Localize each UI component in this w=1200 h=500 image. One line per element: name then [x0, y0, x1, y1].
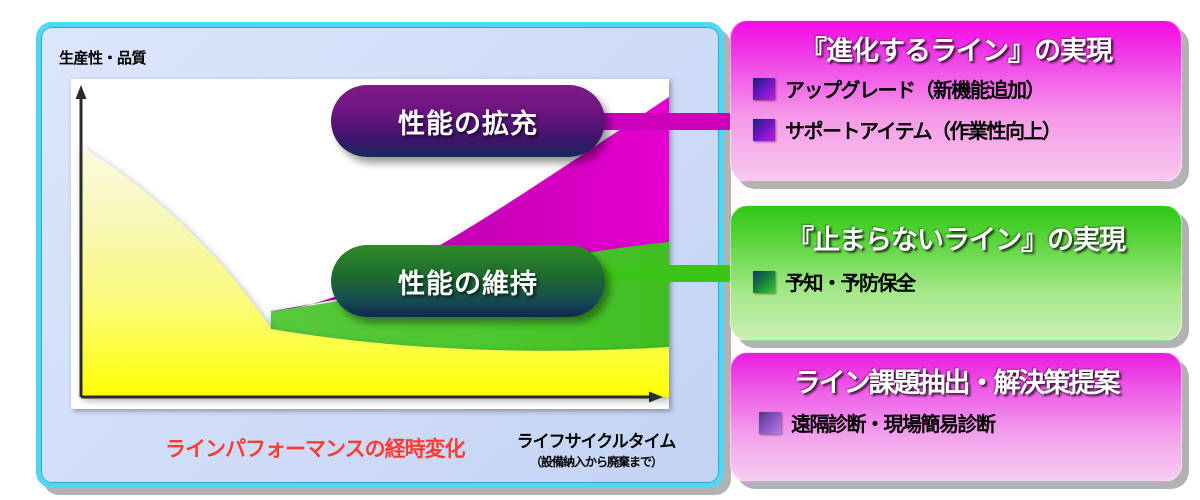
diagram-canvas: 生産性・品質 — [0, 0, 1200, 500]
x-axis-label: ライフサイクルタイム — [481, 427, 711, 452]
list-item-label: サポートアイテム（作業性向上） — [785, 115, 1061, 144]
panel-nonstop-line[interactable]: 『止まらないライン』の実現 予知・予防保全 — [730, 205, 1182, 341]
panel-nonstop-line-title: 『止まらないライン』の実現 — [731, 206, 1181, 257]
x-axis-label-block: ライフサイクルタイム （設備納入から廃棄まで） — [481, 427, 711, 470]
x-axis-sublabel: （設備納入から廃棄まで） — [481, 453, 711, 470]
panel-issue-extraction-bullets: 遠隔診断・現場簡易診断 — [731, 400, 1181, 437]
list-item[interactable]: アップグレード（新機能追加） — [753, 74, 1181, 103]
panel-evolving-line-bullets: アップグレード（新機能追加） サポートアイテム（作業性向上） — [731, 68, 1181, 144]
bullet-square-icon — [759, 412, 781, 434]
y-axis-arrow — [76, 85, 87, 99]
bullet-square-icon — [753, 78, 775, 100]
list-item-label: 遠隔診断・現場簡易診断 — [791, 408, 995, 437]
label-pill-performance-expansion: 性能の拡充 — [331, 85, 605, 157]
label-pill-performance-maintenance: 性能の維持 — [331, 245, 605, 317]
panel-evolving-line-title: 『進化するライン』の実現 — [731, 21, 1181, 68]
list-item-label: アップグレード（新機能追加） — [785, 74, 1044, 103]
panel-issue-extraction-title: ライン課題抽出・解決策提案 — [731, 353, 1181, 400]
panel-nonstop-line-bullets: 予知・予防保全 — [731, 257, 1181, 296]
bullet-square-icon — [753, 119, 775, 141]
panel-evolving-line[interactable]: 『進化するライン』の実現 アップグレード（新機能追加） サポートアイテム（作業性… — [730, 20, 1182, 182]
panel-issue-extraction[interactable]: ライン課題抽出・解決策提案 遠隔診断・現場簡易診断 — [730, 352, 1182, 482]
bullet-square-icon — [753, 271, 775, 293]
list-item[interactable]: 予知・予防保全 — [753, 267, 1181, 296]
chart-caption: ラインパフォーマンスの経時変化 — [165, 433, 465, 463]
list-item-label: 予知・予防保全 — [785, 267, 915, 296]
list-item[interactable]: サポートアイテム（作業性向上） — [753, 115, 1181, 144]
list-item[interactable]: 遠隔診断・現場簡易診断 — [759, 408, 1181, 437]
y-axis-label: 生産性・品質 — [59, 47, 146, 68]
